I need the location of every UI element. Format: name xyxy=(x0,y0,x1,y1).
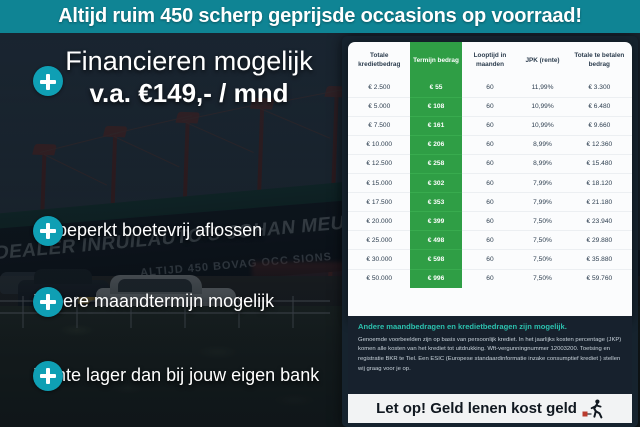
plus-icon xyxy=(33,216,63,246)
table-row: € 50.000€ 996607,50%€ 59.760 xyxy=(348,269,632,288)
table-header-cell: Termijn bedrag xyxy=(410,42,461,79)
rates-table: Totale kredietbedragTermijn bedragLoopti… xyxy=(348,42,632,288)
promo-bullet-label: Lagere maandtermijn mogelijk xyxy=(33,291,274,312)
table-cell: € 258 xyxy=(410,154,461,173)
table-cell: € 29.880 xyxy=(567,231,632,250)
promo-headline-line2: v.a. €149,- / mnd xyxy=(34,77,344,110)
promo-bullet-maandtermijn: Lagere maandtermijn mogelijk xyxy=(33,291,274,312)
promo-column: Financieren mogelijk v.a. €149,- / mnd O… xyxy=(0,33,348,427)
ball-and-chain-runner-icon xyxy=(582,399,604,419)
table-cell: € 206 xyxy=(410,135,461,154)
table-cell: € 498 xyxy=(410,231,461,250)
table-cell: 10,99% xyxy=(518,116,566,135)
table-cell: € 7.500 xyxy=(348,116,410,135)
promo-bullet-rente: Rente lager dan bij jouw eigen bank xyxy=(33,365,319,386)
promo-headline: Financieren mogelijk v.a. €149,- / mnd xyxy=(34,47,344,109)
table-cell: € 55 xyxy=(410,79,461,98)
table-row: € 17.500€ 353607,99%€ 21.180 xyxy=(348,193,632,212)
table-cell: € 15.000 xyxy=(348,174,410,193)
table-cell: 60 xyxy=(462,231,519,250)
table-row: € 12.500€ 258608,99%€ 15.480 xyxy=(348,154,632,173)
table-cell: € 399 xyxy=(410,212,461,231)
table-cell: € 302 xyxy=(410,174,461,193)
promo-bullet-label: Rente lager dan bij jouw eigen bank xyxy=(33,365,319,386)
table-cell: 8,99% xyxy=(518,154,566,173)
table-cell: € 20.000 xyxy=(348,212,410,231)
table-cell: 60 xyxy=(462,193,519,212)
table-cell: 60 xyxy=(462,97,519,116)
table-header-cell: JPK (rente) xyxy=(518,42,566,79)
table-body: € 2.500€ 556011,99%€ 3.300€ 5.000€ 10860… xyxy=(348,79,632,288)
table-cell: € 10.000 xyxy=(348,135,410,154)
table-row: € 2.500€ 556011,99%€ 3.300 xyxy=(348,79,632,98)
table-cell: € 5.000 xyxy=(348,97,410,116)
table-cell: € 108 xyxy=(410,97,461,116)
table-header-row: Totale kredietbedragTermijn bedragLoopti… xyxy=(348,42,632,79)
table-row: € 20.000€ 399607,50%€ 23.940 xyxy=(348,212,632,231)
table-cell: € 2.500 xyxy=(348,79,410,98)
table-cell: € 18.120 xyxy=(567,174,632,193)
table-cell: 8,99% xyxy=(518,135,566,154)
table-cell: 60 xyxy=(462,116,519,135)
table-cell: € 353 xyxy=(410,193,461,212)
table-cell: 60 xyxy=(462,174,519,193)
table-cell: 60 xyxy=(462,212,519,231)
table-cell: 60 xyxy=(462,154,519,173)
plus-icon xyxy=(33,66,63,96)
credit-warning-bar: Let op! Geld lenen kost geld xyxy=(348,394,632,423)
table-cell: 10,99% xyxy=(518,97,566,116)
table-cell: € 17.500 xyxy=(348,193,410,212)
table-cell: € 21.180 xyxy=(567,193,632,212)
rates-table-card: Totale kredietbedragTermijn bedragLoopti… xyxy=(348,42,632,322)
table-cell: € 3.300 xyxy=(567,79,632,98)
table-cell: 7,50% xyxy=(518,231,566,250)
table-cell: € 35.880 xyxy=(567,250,632,269)
top-banner: Altijd ruim 450 scherp geprijsde occasio… xyxy=(0,0,640,33)
promo-bullet-aflossen: Onbeperkt boetevrij aflossen xyxy=(33,220,262,241)
table-row: € 30.000€ 598607,50%€ 35.880 xyxy=(348,250,632,269)
table-cell: € 996 xyxy=(410,269,461,288)
table-row: € 15.000€ 302607,99%€ 18.120 xyxy=(348,174,632,193)
table-cell: € 30.000 xyxy=(348,250,410,269)
table-cell: € 9.660 xyxy=(567,116,632,135)
table-cell: € 161 xyxy=(410,116,461,135)
table-cell: € 50.000 xyxy=(348,269,410,288)
table-cell: € 59.760 xyxy=(567,269,632,288)
credit-warning-text: Let op! Geld lenen kost geld xyxy=(376,400,577,417)
table-row: € 5.000€ 1086010,99%€ 6.480 xyxy=(348,97,632,116)
table-cell: 7,50% xyxy=(518,269,566,288)
table-cell: 60 xyxy=(462,250,519,269)
legal-body: Genoemde voorbeelden zijn op basis van p… xyxy=(358,336,622,374)
legal-disclaimer-block: Andere maandbedragen en kredietbedragen … xyxy=(348,316,632,394)
table-cell: 60 xyxy=(462,79,519,98)
table-cell: 7,50% xyxy=(518,250,566,269)
top-banner-text: Altijd ruim 450 scherp geprijsde occasio… xyxy=(58,5,582,28)
plus-icon xyxy=(33,287,63,317)
table-cell: € 598 xyxy=(410,250,461,269)
table-header-cell: Totale te betalen bedrag xyxy=(567,42,632,79)
table-header-cell: Looptijd in maanden xyxy=(462,42,519,79)
table-cell: € 12.500 xyxy=(348,154,410,173)
table-row: € 7.500€ 1616010,99%€ 9.660 xyxy=(348,116,632,135)
table-cell: 60 xyxy=(462,135,519,154)
table-cell: 60 xyxy=(462,269,519,288)
table-cell: 7,50% xyxy=(518,212,566,231)
plus-icon xyxy=(33,361,63,391)
table-cell: € 15.480 xyxy=(567,154,632,173)
advertisement-banner: DEALER INRUILAUTO'S JOHAN MEURE ALTIJD 4… xyxy=(0,0,640,427)
legal-title: Andere maandbedragen en kredietbedragen … xyxy=(358,322,622,332)
table-cell: 11,99% xyxy=(518,79,566,98)
table-header-cell: Totale kredietbedrag xyxy=(348,42,410,79)
promo-bullet-label: Onbeperkt boetevrij aflossen xyxy=(33,220,262,241)
table-cell: € 12.360 xyxy=(567,135,632,154)
table-cell: 7,99% xyxy=(518,193,566,212)
table-cell: € 23.940 xyxy=(567,212,632,231)
table-row: € 10.000€ 206608,99%€ 12.360 xyxy=(348,135,632,154)
table-cell: 7,99% xyxy=(518,174,566,193)
promo-headline-line1: Financieren mogelijk xyxy=(34,47,344,77)
table-cell: € 6.480 xyxy=(567,97,632,116)
table-cell: € 25.000 xyxy=(348,231,410,250)
table-row: € 25.000€ 498607,50%€ 29.880 xyxy=(348,231,632,250)
